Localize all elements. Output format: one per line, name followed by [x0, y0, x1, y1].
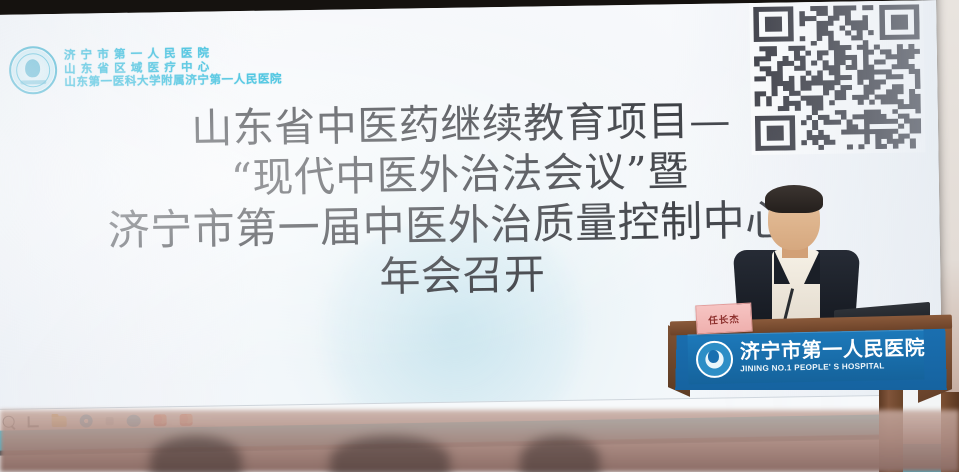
foreground-silhouette-2 [330, 436, 450, 472]
hospital-logo-line-3: 山东第一医科大学附属济宁第一人民医院 [64, 73, 282, 89]
hospital-logo-lockup: 济宁市第一人民医院 山东省区域医疗中心 山东第一医科大学附属济宁第一人民医院 [9, 42, 283, 94]
speaker-hair [765, 185, 823, 213]
speaker-name-card-label: 任长杰 [708, 311, 740, 327]
podium-sign-text: 济宁市第一人民医院 JINING NO.1 PEOPLE' S HOSPITAL [740, 339, 926, 375]
speaker-name-card: 任长杰 [695, 303, 752, 335]
foreground-silhouette-3 [520, 436, 600, 472]
podium-name-en: JINING NO.1 PEOPLE' S HOSPITAL [740, 362, 926, 375]
emblem-bar [20, 80, 46, 84]
foreground-blur [0, 410, 959, 472]
podium-sign: 济宁市第一人民医院 JINING NO.1 PEOPLE' S HOSPITAL [688, 330, 925, 385]
foreground-silhouette-1 [150, 436, 242, 472]
screenshot-root: 济宁市第一人民医院 山东省区域医疗中心 山东第一医科大学附属济宁第一人民医院 山… [0, 0, 959, 472]
hospital-emblem-icon [696, 340, 734, 378]
podium-name-cn: 济宁市第一人民医院 [740, 339, 926, 364]
hospital-emblem-icon [9, 46, 58, 95]
hospital-logo-text: 济宁市第一人民医院 山东省区域医疗中心 山东第一医科大学附属济宁第一人民医院 [64, 47, 282, 90]
